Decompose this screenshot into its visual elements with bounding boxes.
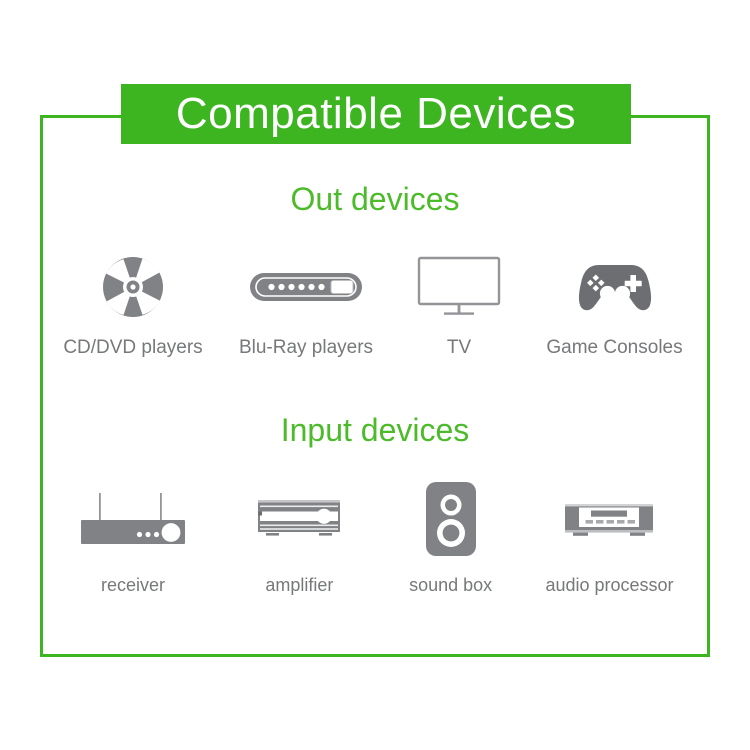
speaker-icon [425,480,477,558]
amplifier-icon [256,480,342,558]
device-label: amplifier [265,576,333,594]
device-label: CD/DVD players [63,338,202,357]
section-heading-input-devices: Input devices [0,414,750,446]
device-label: audio processor [545,576,673,594]
device-item-receiver: receiver [58,480,208,594]
gamepad-icon [575,248,655,326]
device-item-tv: TV [404,248,514,357]
device-label: TV [447,338,471,357]
device-item-amplifier: amplifier [224,480,374,594]
device-item-cd-dvd-players: CD/DVD players [58,248,208,357]
tv-monitor-icon [417,248,501,326]
audio-processor-icon [563,480,655,558]
device-item-sound-box: sound box [391,480,511,594]
device-item-audio-processor: audio processor [527,480,692,594]
input-devices-row: receiver amplifier [58,480,692,594]
device-item-blu-ray-players: Blu-Ray players [231,248,381,357]
page-title: Compatible Devices [176,92,576,136]
bluray-player-icon [249,248,363,326]
section-heading-out-devices: Out devices [0,183,750,215]
device-label: sound box [409,576,492,594]
out-devices-row: CD/DVD players [58,248,692,357]
title-banner: Compatible Devices [121,84,631,144]
av-receiver-icon [77,480,189,558]
device-item-game-consoles: Game Consoles [537,248,692,357]
device-label: receiver [101,576,165,594]
device-label: Blu-Ray players [239,338,373,357]
cd-disc-icon [102,248,164,326]
device-label: Game Consoles [546,338,682,357]
compatible-devices-infographic: Compatible Devices Out devices [0,0,750,750]
